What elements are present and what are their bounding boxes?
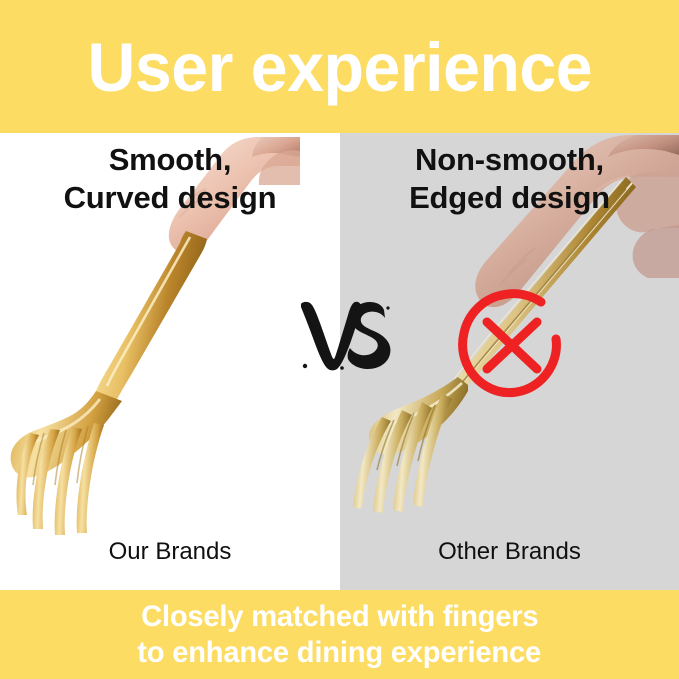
user-experience-comparison-infographic: User experience Smooth, Curved design [0, 0, 679, 679]
page-title: User experience [87, 33, 592, 102]
left-heading-line2: Curved design [0, 179, 340, 217]
our-brands-label: Our Brands [0, 538, 340, 566]
comparison-panel-our-brands: Smooth, Curved design [0, 133, 340, 590]
footer-line-2: to enhance dining experience [138, 635, 542, 671]
other-brands-label: Other Brands [340, 538, 679, 566]
left-fork-handle [96, 231, 207, 403]
header-banner: User experience [0, 0, 679, 133]
footer-line-1: Closely matched with fingers [141, 599, 538, 635]
reject-mark [455, 288, 577, 402]
footer-banner: Closely matched with fingers to enhance … [0, 590, 679, 679]
left-fork-head [11, 391, 122, 535]
left-panel-heading: Smooth, Curved design [0, 141, 340, 217]
red-circle-x-icon [455, 288, 577, 402]
brush-vs-icon [296, 296, 392, 374]
versus-mark [296, 296, 392, 374]
left-heading-line1: Smooth, [109, 142, 232, 177]
right-fork-head [353, 377, 468, 513]
right-heading-line1: Non-smooth, [415, 142, 604, 177]
right-heading-line2: Edged design [340, 179, 679, 217]
right-panel-heading: Non-smooth, Edged design [340, 141, 679, 217]
